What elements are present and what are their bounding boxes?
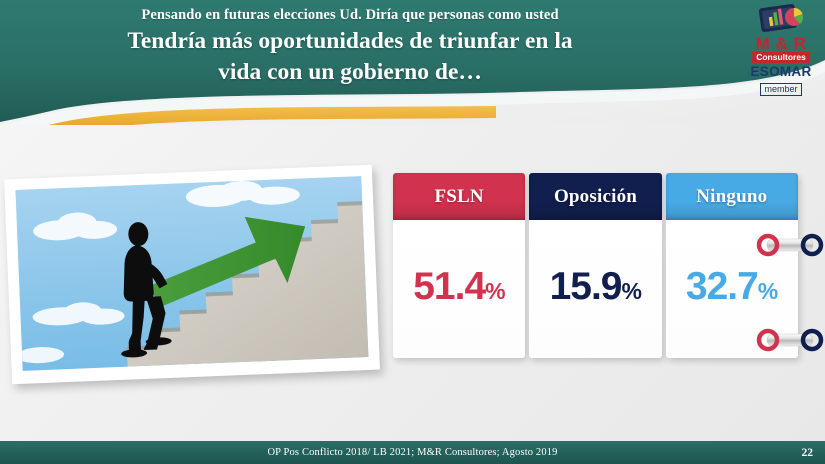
logo-member-badge: member	[760, 83, 801, 96]
stairs-climb-illustration	[15, 176, 368, 371]
result-card-value-oposicion: 15.9%	[550, 267, 642, 311]
result-card-body-ninguno: 32.7%	[666, 220, 798, 358]
results-card-group: FSLN 51.4% Oposición 15.9% Ninguno 32.7%	[393, 173, 798, 358]
result-card-fsln[interactable]: FSLN 51.4%	[393, 173, 525, 358]
result-card-ninguno[interactable]: Ninguno 32.7%	[666, 173, 798, 358]
footer-bar: OP Pos Conflicto 2018/ LB 2021; M&R Cons…	[0, 441, 825, 464]
company-logo[interactable]: M & R Consultores ESOMAR member	[749, 2, 813, 97]
result-card-header-fsln: FSLN	[393, 173, 525, 220]
result-card-label-oposicion: Oposición	[554, 186, 637, 208]
logo-brand-text: M & R	[749, 36, 813, 52]
illustration-photo	[15, 176, 368, 371]
result-card-label-fsln: FSLN	[434, 186, 483, 208]
result-card-oposicion[interactable]: Oposición 15.9%	[529, 173, 661, 358]
result-card-body-oposicion: 15.9%	[529, 220, 661, 358]
header-banner: Pensando en futuras elecciones Ud. Diría…	[0, 0, 825, 125]
result-card-label-ninguno: Ninguno	[696, 186, 767, 208]
result-card-header-ninguno: Ninguno	[666, 173, 798, 220]
header-shape	[0, 0, 825, 125]
footer-page-number: 22	[802, 447, 814, 459]
result-card-value-fsln: 51.4%	[413, 267, 505, 311]
logo-esomar-text: ESOMAR	[749, 64, 813, 79]
illustration-photo-frame	[4, 165, 380, 385]
result-card-header-oposicion: Oposición	[529, 173, 661, 220]
slide-root: Pensando en futuras elecciones Ud. Diría…	[0, 0, 825, 464]
footer-source-text: OP Pos Conflicto 2018/ LB 2021; M&R Cons…	[267, 447, 557, 458]
result-card-body-fsln: 51.4%	[393, 220, 525, 358]
result-card-value-ninguno: 32.7%	[686, 267, 778, 311]
logo-tablet-chart-icon	[754, 2, 808, 35]
logo-subtitle-text: Consultores	[752, 52, 810, 63]
